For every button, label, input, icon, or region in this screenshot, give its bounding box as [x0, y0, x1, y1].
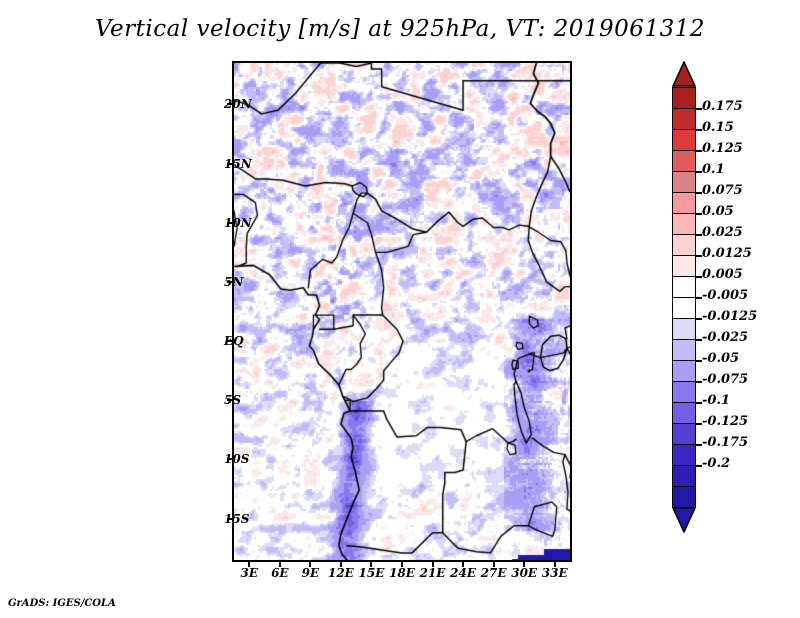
colorbar-swatch	[672, 444, 696, 466]
colorbar-tick	[696, 297, 702, 299]
x-axis-tick	[462, 561, 464, 567]
colorbar-swatch	[672, 360, 696, 382]
colorbar-tick	[696, 129, 702, 131]
x-axis-label: 33E	[535, 566, 575, 580]
colorbar-tick	[696, 213, 702, 215]
grads-credit: GrADS: IGES/COLA	[8, 598, 116, 609]
x-axis-tick	[340, 561, 342, 567]
colorbar-swatch	[672, 486, 696, 508]
colorbar-label: 0.125	[702, 141, 743, 156]
colorbar-tick	[696, 150, 702, 152]
y-axis-tick	[227, 222, 233, 224]
colorbar-swatch	[672, 381, 696, 403]
colorbar-label: -0.025	[702, 330, 748, 345]
colorbar-tick	[696, 423, 702, 425]
colorbar-swatch	[672, 255, 696, 277]
y-axis-tick	[227, 399, 233, 401]
colorbar-swatch	[672, 465, 696, 487]
colorbar-tick	[696, 381, 702, 383]
colorbar-tick	[696, 339, 702, 341]
colorbar-label: 0.1	[702, 162, 725, 177]
colorbar-label: -0.075	[702, 372, 748, 387]
colorbar-label: 0.05	[702, 204, 734, 219]
x-axis-tick	[309, 561, 311, 567]
y-axis-tick	[227, 103, 233, 105]
y-axis-tick	[227, 458, 233, 460]
colorbar-label: 0.15	[702, 120, 734, 135]
colorbar-swatch	[672, 276, 696, 298]
x-axis-tick	[554, 561, 556, 567]
colorbar-swatch	[672, 234, 696, 256]
x-axis-tick	[493, 561, 495, 567]
colorbar-tick	[696, 234, 702, 236]
colorbar-swatch	[672, 423, 696, 445]
colorbar-swatch	[672, 297, 696, 319]
x-axis-tick	[370, 561, 372, 567]
colorbar-swatch	[672, 129, 696, 151]
colorbar-tick	[696, 318, 702, 320]
colorbar-swatch	[672, 213, 696, 235]
colorbar-min-arrow	[672, 507, 696, 533]
colorbar-label: -0.05	[702, 351, 739, 366]
colorbar-label: 0.005	[702, 267, 743, 282]
colorbar-label: -0.125	[702, 414, 748, 429]
colorbar-label: -0.0125	[702, 309, 757, 324]
x-axis-tick	[432, 561, 434, 567]
colorbar-swatch	[672, 108, 696, 130]
page-title: Vertical velocity [m/s] at 925hPa, VT: 2…	[0, 16, 800, 42]
colorbar-tick	[696, 108, 702, 110]
colorbar-label: 0.025	[702, 225, 743, 240]
colorbar-swatch	[672, 87, 696, 109]
colorbar-label: -0.175	[702, 435, 748, 450]
colorbar-tick	[696, 276, 702, 278]
colorbar-tick	[696, 402, 702, 404]
colorbar-swatch	[672, 150, 696, 172]
colorbar-tick	[696, 255, 702, 257]
colorbar-swatch	[672, 318, 696, 340]
colorbar-tick	[696, 444, 702, 446]
y-axis-tick	[227, 518, 233, 520]
colorbar-legend[interactable]: 0.1750.150.1250.10.0750.050.0250.01250.0…	[668, 61, 798, 561]
colorbar-tick	[696, 192, 702, 194]
colorbar-label: -0.2	[702, 456, 730, 471]
x-axis-tick	[523, 561, 525, 567]
colorbar-max-arrow	[672, 61, 696, 87]
colorbar-label: 0.0125	[702, 246, 752, 261]
map-plot-area[interactable]	[232, 61, 572, 562]
colorbar-swatch	[672, 402, 696, 424]
x-axis-tick	[279, 561, 281, 567]
colorbar-swatch	[672, 192, 696, 214]
colorbar-label: 0.175	[702, 99, 743, 114]
colorbar-swatch	[672, 171, 696, 193]
y-axis-tick	[227, 281, 233, 283]
colorbar-label: 0.075	[702, 183, 743, 198]
colorbar-tick	[696, 171, 702, 173]
colorbar-label: -0.1	[702, 393, 730, 408]
grads-plot-page: Vertical velocity [m/s] at 925hPa, VT: 2…	[0, 0, 800, 618]
y-axis-tick	[227, 163, 233, 165]
colorbar-label: -0.005	[702, 288, 748, 303]
colorbar-swatch	[672, 339, 696, 361]
x-axis-tick	[248, 561, 250, 567]
country-borders-overlay	[234, 63, 570, 560]
y-axis-tick	[227, 340, 233, 342]
x-axis-tick	[401, 561, 403, 567]
colorbar-tick	[696, 465, 702, 467]
colorbar-tick	[696, 360, 702, 362]
